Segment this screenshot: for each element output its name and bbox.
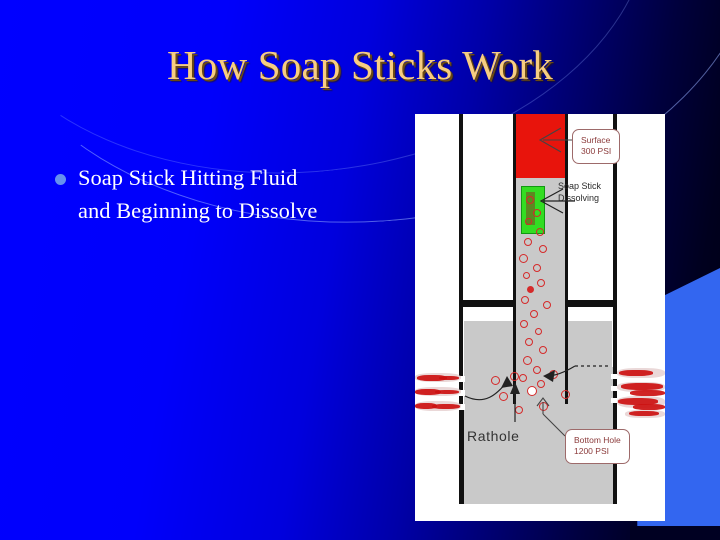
label-rathole: Rathole	[467, 427, 519, 446]
bubble	[543, 301, 551, 309]
formation-flow-streak	[439, 376, 459, 380]
bubble	[523, 272, 530, 279]
callout-surface-pressure: Surface 300 PSI	[572, 129, 620, 164]
callout-bottom-hole-pressure: Bottom Hole 1200 PSI	[565, 429, 630, 464]
formation-flow-streak	[621, 383, 663, 390]
casing-left	[459, 114, 463, 404]
bubble	[515, 406, 523, 414]
bubble	[527, 386, 537, 396]
bubble	[530, 310, 538, 318]
casing-shoe-left	[459, 300, 515, 307]
bubble	[533, 366, 541, 374]
bubble	[519, 254, 528, 263]
bubble	[491, 376, 500, 385]
list-item: Soap Stick Hitting Fluid and Beginning t…	[55, 162, 385, 227]
bubble	[549, 370, 558, 379]
wellbore-diagram-image: Surface 300 PSI Soap Stick Dissolving Ra…	[415, 114, 665, 521]
page-title: How Soap Sticks Work	[0, 44, 720, 87]
bubble	[521, 296, 529, 304]
bubble	[561, 390, 570, 399]
bubble	[520, 320, 528, 328]
formation-flow-streak	[619, 370, 653, 376]
bubble	[499, 392, 508, 401]
bullet-list: Soap Stick Hitting Fluid and Beginning t…	[55, 162, 385, 227]
bubble	[533, 264, 541, 272]
bullet-marker-icon	[55, 174, 66, 185]
formation-flow-streak	[435, 390, 459, 394]
bubble	[519, 374, 527, 382]
bubble	[525, 218, 532, 225]
slide: How Soap Sticks Work Soap Stick Hitting …	[0, 0, 720, 540]
formation-flow-streak	[629, 411, 659, 416]
bubble	[533, 209, 541, 217]
tubing-wall-right	[565, 114, 568, 404]
bullet-item-label: Soap Stick Hitting Fluid and Beginning t…	[78, 162, 328, 227]
tubing-red-fluid-slug	[516, 114, 565, 178]
bubble	[535, 328, 542, 335]
bubble	[537, 380, 545, 388]
bubble	[537, 279, 545, 287]
casing-shoe-right	[566, 300, 617, 307]
bubble	[524, 238, 532, 246]
bubble	[536, 228, 544, 236]
bubble	[539, 402, 548, 411]
bubble	[510, 372, 519, 381]
bubble	[525, 338, 533, 346]
bubble	[539, 245, 547, 253]
bubble	[527, 286, 534, 293]
perforation	[611, 374, 617, 379]
label-soap-stick-dissolving: Soap Stick Dissolving	[558, 180, 601, 204]
background-accent-wedge-base	[630, 526, 720, 540]
bubble	[523, 356, 532, 365]
formation-flow-streak	[432, 404, 460, 409]
tubing-wall-left	[513, 114, 516, 404]
bubble	[539, 346, 547, 354]
bubble	[526, 196, 534, 204]
